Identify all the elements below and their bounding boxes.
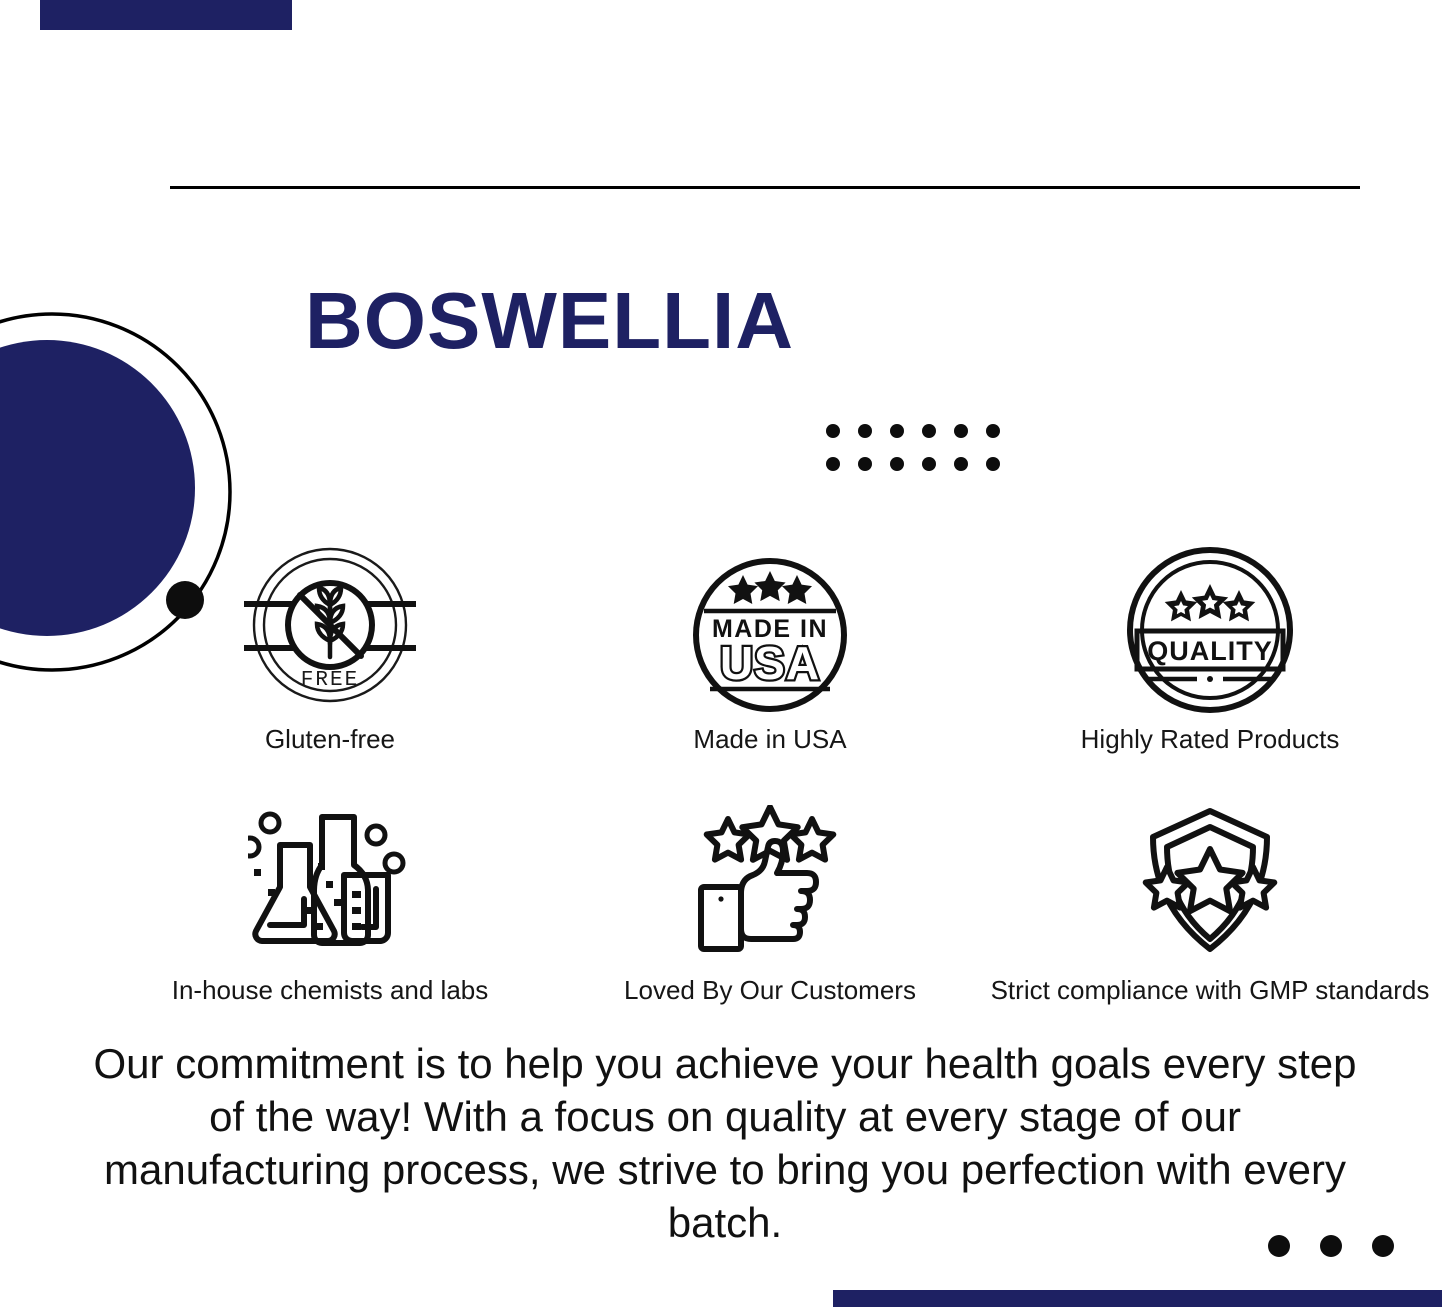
grid-dot-icon — [826, 457, 840, 471]
infographic-page: BOSWELLIA — [0, 0, 1442, 1307]
badge-label: Strict compliance with GMP standards — [991, 975, 1430, 1006]
grid-dot-icon — [890, 424, 904, 438]
bottom-dot-icon — [1320, 1235, 1342, 1257]
bottom-dot-icon — [1372, 1235, 1394, 1257]
badge-row-1: FREE Gluten-free — [110, 540, 1430, 755]
grid-dot-icon — [826, 424, 840, 438]
top-accent-bar — [40, 0, 292, 30]
grid-dot-icon — [858, 424, 872, 438]
badge-art — [695, 795, 845, 955]
cuff-shape-icon — [701, 887, 741, 949]
grid-dot-icon — [922, 457, 936, 471]
badge-row-2: In-house chemists and labs — [110, 795, 1430, 1006]
badge-quality-text: QUALITY — [1147, 636, 1273, 666]
grid-dot-icon — [986, 457, 1000, 471]
commitment-paragraph: Our commitment is to help you achieve yo… — [90, 1038, 1360, 1250]
grid-dot-icon — [954, 457, 968, 471]
bottom-dot-icon — [1268, 1235, 1290, 1257]
badge-art — [1135, 795, 1285, 955]
dot-grid-decoration — [826, 424, 1018, 490]
grid-dot-icon — [986, 424, 1000, 438]
badge-made-in-usa: MADE IN USA Made in USA — [550, 540, 990, 755]
bottom-accent-bar — [833, 1290, 1442, 1307]
gluten-free-badge-icon: FREE — [242, 545, 418, 715]
badge-free-text: FREE — [301, 669, 359, 692]
grid-dot-icon — [858, 457, 872, 471]
bottom-dots-decoration — [1268, 1235, 1394, 1257]
trust-badge-grid: FREE Gluten-free — [110, 540, 1430, 1006]
shield-stars-icon — [1135, 805, 1285, 955]
grid-dot-icon — [954, 424, 968, 438]
badge-art: FREE — [242, 540, 418, 715]
badge-highly-rated: QUALITY Highly Rated Products — [990, 540, 1430, 755]
badge-loved-by-customers: Loved By Our Customers — [550, 795, 990, 1006]
laboratory-flasks-icon — [248, 805, 413, 955]
made-in-usa-badge-icon: MADE IN USA — [690, 555, 850, 715]
badge-art: MADE IN USA — [690, 540, 850, 715]
badge-art: QUALITY — [1125, 540, 1295, 715]
grid-dot-icon — [890, 457, 904, 471]
header-divider-rule — [170, 186, 1360, 189]
badge-label: Highly Rated Products — [1081, 724, 1340, 755]
badge-label: In-house chemists and labs — [172, 975, 489, 1006]
grid-dot-icon — [922, 424, 936, 438]
badge-in-house-labs: In-house chemists and labs — [110, 795, 550, 1006]
three-stars-icon — [728, 571, 812, 604]
badge-label: Gluten-free — [265, 724, 395, 755]
quality-seal-badge-icon: QUALITY — [1125, 545, 1295, 715]
badge-label: Loved By Our Customers — [624, 975, 916, 1006]
badge-label: Made in USA — [693, 724, 846, 755]
thumbs-up-stars-icon — [695, 805, 845, 955]
bubbles-icon — [248, 814, 403, 872]
badge-usa-text: USA — [720, 637, 820, 689]
badge-art — [248, 795, 413, 955]
badge-gluten-free: FREE Gluten-free — [110, 540, 550, 755]
page-title: BOSWELLIA — [305, 281, 794, 361]
badge-gmp-compliance: Strict compliance with GMP standards — [990, 795, 1430, 1006]
cuff-dot-icon — [718, 896, 723, 901]
